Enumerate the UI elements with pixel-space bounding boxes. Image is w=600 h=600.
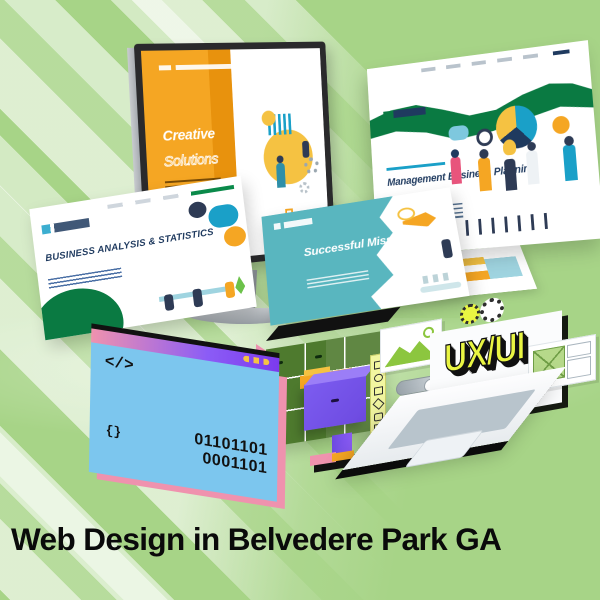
figure-legs (453, 212, 557, 237)
chat-bubble-icon (188, 201, 208, 220)
lightbulb-icon (502, 139, 516, 156)
chat-bubble-icon (208, 203, 240, 230)
brand-logo (41, 218, 90, 234)
drawer-handle-icon (331, 399, 339, 403)
person-figure (478, 157, 492, 191)
creative-heading-line1: Creative (162, 125, 215, 144)
biz-illustration (132, 186, 256, 319)
person-figure (276, 163, 286, 188)
person-figure (441, 239, 453, 259)
plant-icon (234, 275, 246, 294)
person-figure (302, 141, 309, 158)
mission-illustration (380, 193, 467, 304)
person-figure (563, 144, 578, 181)
gear-icon (480, 296, 504, 324)
gear-icon (460, 302, 480, 326)
illustration-canvas: Management Business Planning (0, 0, 600, 600)
open-drawer[interactable] (304, 375, 366, 431)
person-figure (225, 281, 236, 298)
person-figure (526, 150, 540, 185)
person-figure (504, 158, 517, 190)
blue-block (484, 256, 523, 279)
tool-icon (374, 386, 383, 396)
code-editor-window: </> {} 011011010001101 (90, 355, 278, 487)
gear-icon (223, 225, 247, 248)
gear-icon (299, 181, 310, 193)
creative-heading-line2: Solutions (164, 150, 219, 170)
tool-icon (372, 398, 384, 410)
code-window-frame: </> {} 011011010001101 (89, 340, 279, 501)
person-figure (163, 293, 174, 310)
wireframe-rect (567, 356, 591, 379)
page-title: Web Design in Belvedere Park GA (11, 521, 501, 558)
person-figure (450, 156, 462, 184)
biz-paragraph (48, 268, 122, 290)
gear-icon (303, 157, 319, 175)
tool-icon (374, 373, 383, 383)
slide-nav-bar (421, 48, 583, 73)
ux-ui-laptop: UX/UI (382, 318, 592, 494)
code-brace-icon: {} (105, 423, 121, 440)
